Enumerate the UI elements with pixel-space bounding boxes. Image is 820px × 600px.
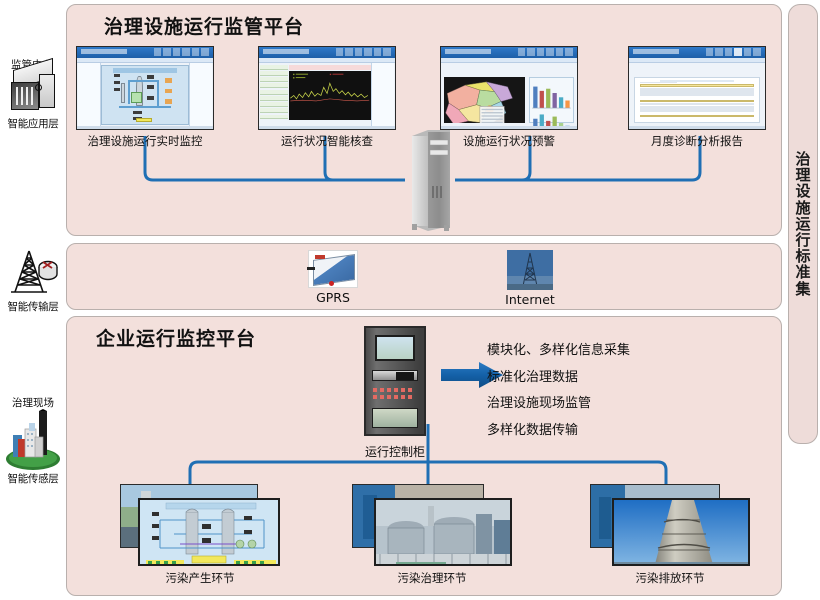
rail-application-layer: 监管中心 智能应用层 [0, 62, 66, 131]
panel-transmission-layer [66, 243, 782, 310]
server-tower-icon [406, 128, 454, 233]
site-label-pollution-generation: 污染产生环节 [110, 570, 290, 586]
std-char: 准 [789, 264, 817, 280]
standards-sidebar: 治 理 设 施 运 行 标 准 集 [788, 4, 818, 444]
rail-label-sensing: 智能传感层 [0, 471, 66, 486]
rail-label-transmission: 智能传输层 [0, 299, 66, 314]
feature-item: 标准化治理数据 [487, 366, 578, 385]
thumbnail-realtime-monitoring[interactable] [76, 46, 214, 130]
thumbnail-status-alert[interactable] [440, 46, 578, 130]
rail-label-application: 智能应用层 [0, 116, 66, 131]
std-char: 理 [789, 167, 817, 183]
city-buildings-icon [3, 409, 63, 471]
rail-transmission-layer: 智能传输层 [0, 247, 66, 314]
thumbnail-label-intelligent-review: 运行状况智能核查 [248, 133, 406, 149]
std-char: 设 [789, 184, 817, 200]
transmission-label-gprs: GPRS [300, 290, 366, 305]
thumbnail-intelligent-review[interactable] [258, 46, 396, 130]
gprs-modem-icon [308, 250, 358, 288]
control-cabinet-icon[interactable] [364, 326, 426, 436]
thumbnail-monthly-report[interactable] [628, 46, 766, 130]
radio-tower-icon [5, 247, 61, 297]
site-label-pollution-emission: 污染排放环节 [580, 570, 760, 586]
server-box-icon: 监管中心 [5, 62, 61, 116]
site-label-pollution-treatment: 污染治理环节 [342, 570, 522, 586]
thumbnail-label-realtime-monitoring: 治理设施运行实时监控 [66, 133, 224, 149]
site-node-pollution-generation[interactable] [120, 484, 280, 566]
panel-title-enterprise: 企业运行监控平台 [96, 324, 256, 351]
feature-item: 多样化数据传输 [487, 419, 578, 438]
feature-item: 模块化、多样化信息采集 [487, 339, 630, 358]
feature-item: 治理设施现场监管 [487, 392, 591, 411]
internet-tower-photo [507, 250, 553, 290]
rail-sensing-layer: 治理现场 智能传感层 [0, 398, 66, 486]
transmission-label-internet: Internet [497, 292, 563, 307]
control-cabinet-label: 运行控制柜 [330, 443, 460, 460]
transmission-node-internet[interactable]: Internet [497, 250, 563, 307]
std-char: 治 [789, 151, 817, 167]
std-char: 运 [789, 216, 817, 232]
panel-title-application: 治理设施运行监管平台 [104, 12, 304, 39]
std-char: 行 [789, 232, 817, 248]
architecture-diagram: 治理设施运行监管平台 企业运行监控平台 治 理 设 施 运 行 标 准 集 监管… [0, 0, 820, 600]
std-char: 标 [789, 248, 817, 264]
standards-sidebar-label: 治 理 设 施 运 行 标 准 集 [789, 151, 817, 297]
city-icon-caption: 治理现场 [0, 398, 66, 409]
site-node-pollution-treatment[interactable] [352, 484, 512, 566]
thumbnail-label-monthly-report: 月度诊断分析报告 [618, 133, 776, 149]
std-char: 施 [789, 200, 817, 216]
site-node-pollution-emission[interactable] [590, 484, 750, 566]
transmission-node-gprs[interactable]: GPRS [300, 250, 366, 305]
std-char: 集 [789, 281, 817, 297]
